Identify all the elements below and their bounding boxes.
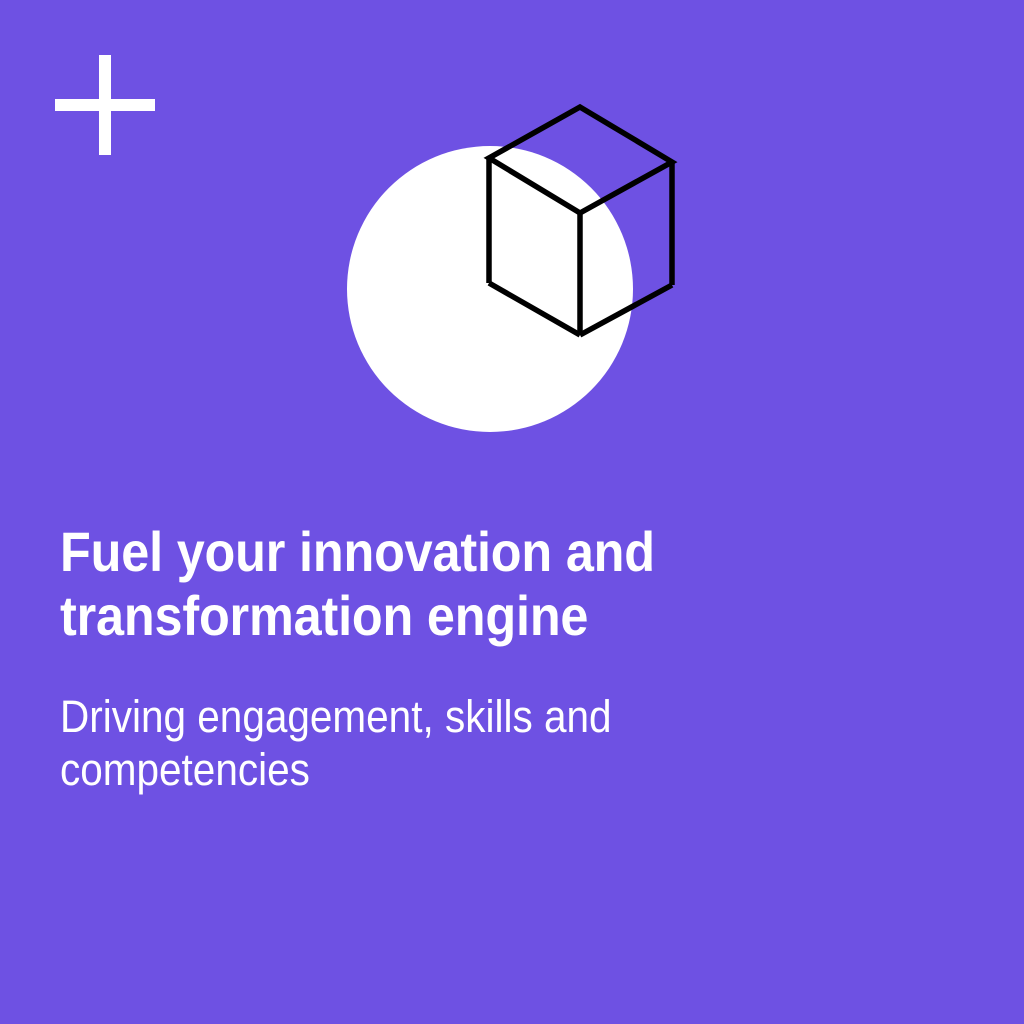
page-subtitle: Driving engagement, skills and competenc… bbox=[60, 648, 690, 796]
page-title: Fuel your innovation and transformation … bbox=[60, 520, 690, 648]
plus-icon-horizontal-bar bbox=[55, 99, 155, 111]
text-block: Fuel your innovation and transformation … bbox=[60, 520, 760, 796]
plus-icon bbox=[55, 55, 155, 155]
promo-card: Fuel your innovation and transformation … bbox=[0, 0, 1024, 1024]
hero-illustration bbox=[330, 90, 700, 450]
